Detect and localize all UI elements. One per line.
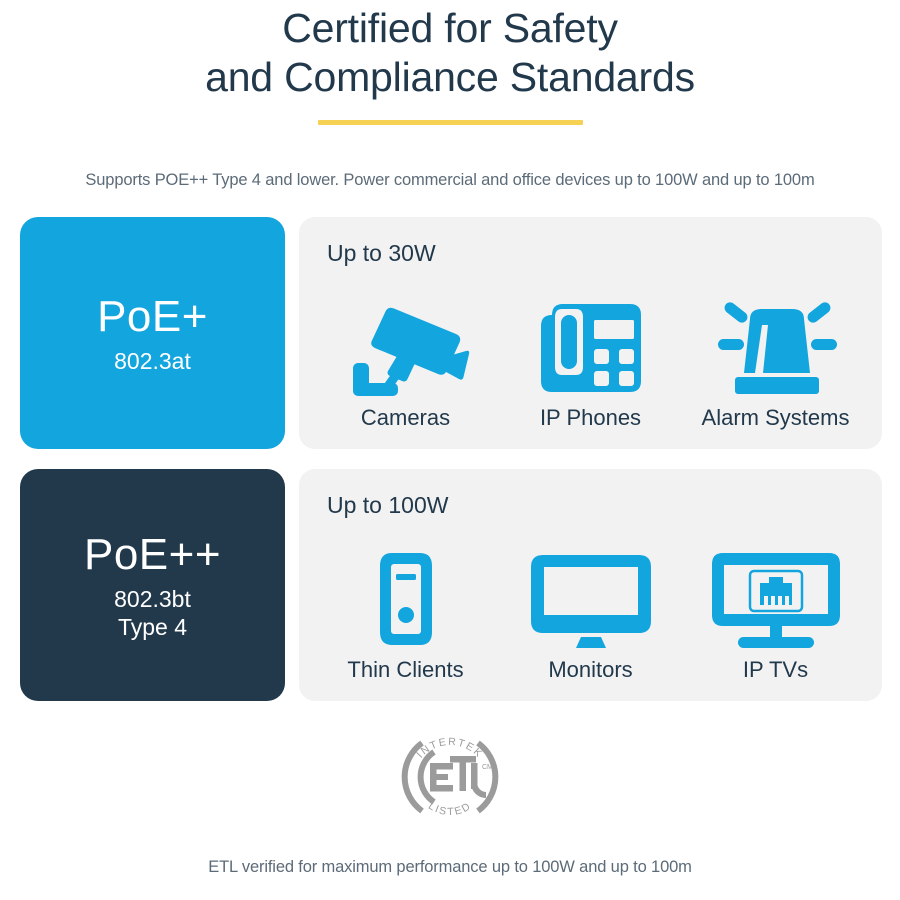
- page-footer: CM INTERTEK LISTED ETL verified for maxi…: [0, 721, 900, 877]
- poe-plus-row: PoE+ 802.3at Up to 30W: [20, 217, 882, 449]
- poe-plus-badge-standard: 802.3at: [114, 347, 191, 375]
- poe-plusplus-row: PoE++ 802.3bt Type 4 Up to 100W: [20, 469, 882, 701]
- poe-plus-device-panel: Up to 30W: [299, 217, 882, 449]
- poe-plusplus-badge-title: PoE++: [84, 529, 221, 581]
- thin-client-tower-icon: [376, 545, 436, 649]
- device-item-thin-clients: Thin Clients: [313, 545, 498, 683]
- ip-phone-icon: [538, 293, 644, 397]
- device-label-thin-clients: Thin Clients: [347, 657, 463, 683]
- page-header: Certified for Safety and Compliance Stan…: [0, 0, 900, 125]
- poe-plus-power-heading: Up to 30W: [327, 239, 868, 267]
- device-label-cameras: Cameras: [361, 405, 450, 431]
- etl-intertek-listed-icon: CM INTERTEK LISTED: [394, 721, 506, 838]
- device-item-ip-phones: IP Phones: [498, 293, 683, 431]
- device-item-monitors: Monitors: [498, 545, 683, 683]
- title-underline-rule: [318, 120, 583, 125]
- page-title-line-2: and Compliance Standards: [0, 53, 900, 102]
- poe-plusplus-badge: PoE++ 802.3bt Type 4: [20, 469, 285, 701]
- alarm-siren-icon: [706, 293, 846, 397]
- footer-caption: ETL verified for maximum performance up …: [208, 858, 692, 877]
- poe-tier-rows: PoE+ 802.3at Up to 30W: [0, 217, 900, 701]
- device-item-alarm-systems: Alarm Systems: [683, 293, 868, 431]
- device-item-cameras: Cameras: [313, 293, 498, 431]
- poe-plus-badge: PoE+ 802.3at: [20, 217, 285, 449]
- device-label-alarm-systems: Alarm Systems: [702, 405, 850, 431]
- poe-plus-device-list: Cameras: [313, 267, 868, 435]
- poe-plusplus-standard-line-2: Type 4: [114, 613, 191, 641]
- device-label-ip-phones: IP Phones: [540, 405, 641, 431]
- page-subtitle: Supports POE++ Type 4 and lower. Power c…: [0, 169, 900, 191]
- poe-plusplus-device-list: Thin Clients Monitors: [313, 519, 868, 687]
- security-camera-icon: [340, 293, 472, 397]
- etl-superscript: CM: [482, 764, 493, 771]
- poe-plusplus-standard-line-1: 802.3bt: [114, 585, 191, 613]
- device-label-monitors: Monitors: [548, 657, 632, 683]
- etl-top-text: INTERTEK: [414, 736, 485, 761]
- device-item-ip-tvs: IP TVs: [683, 545, 868, 683]
- poe-plusplus-device-panel: Up to 100W Thin Clients: [299, 469, 882, 701]
- monitor-icon: [527, 545, 655, 649]
- poe-plus-badge-title: PoE+: [97, 291, 208, 343]
- device-label-ip-tvs: IP TVs: [743, 657, 808, 683]
- etl-bottom-text: LISTED: [426, 800, 474, 818]
- page-title-line-1: Certified for Safety: [0, 4, 900, 53]
- ip-tv-icon: [709, 545, 843, 649]
- poe-plusplus-badge-standard: 802.3bt Type 4: [114, 585, 191, 641]
- poe-plusplus-power-heading: Up to 100W: [327, 491, 868, 519]
